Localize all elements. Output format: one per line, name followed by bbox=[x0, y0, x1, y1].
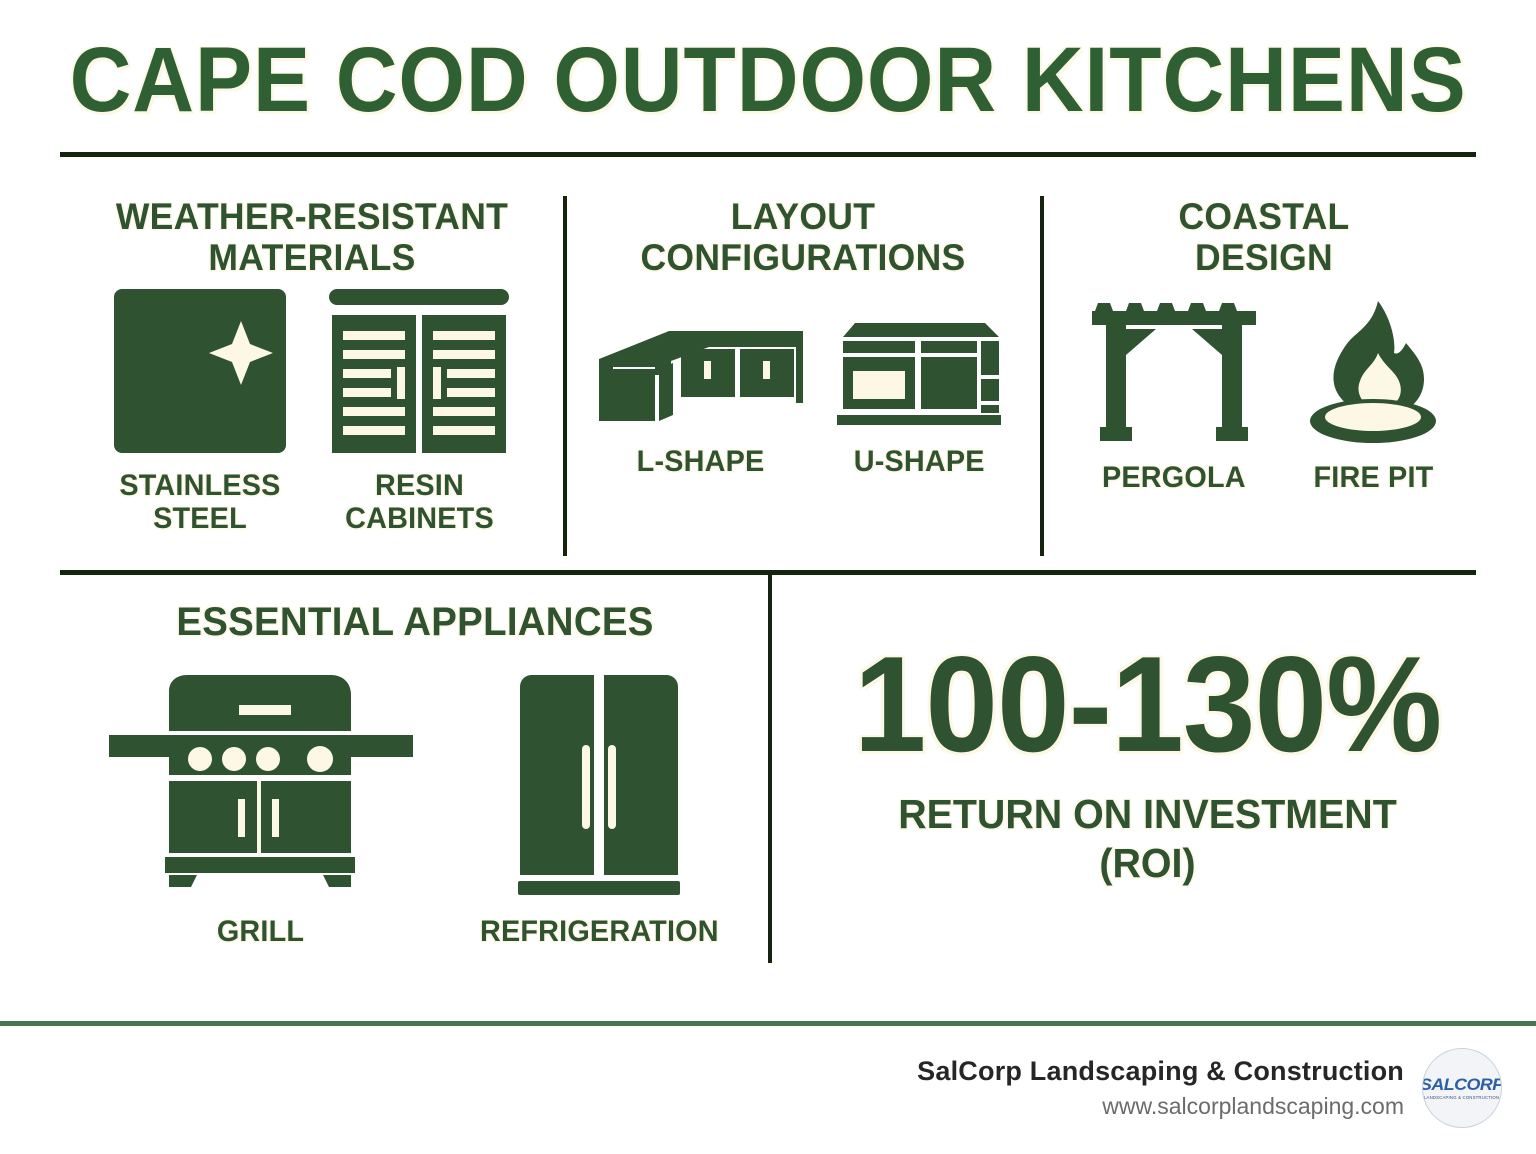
panel-roi-statistic: 100-130% RETURN ON INVESTMENT (ROI) bbox=[775, 600, 1520, 888]
roi-caption-line2: (ROI) bbox=[790, 839, 1505, 888]
footer-divider bbox=[0, 1021, 1536, 1026]
label-resin-cabinets-line2: CABINETS bbox=[345, 502, 494, 536]
resin-cabinet-icon bbox=[324, 285, 514, 457]
label-fire-pit: FIRE PIT bbox=[1313, 461, 1433, 495]
label-grill: GRILL bbox=[217, 915, 304, 949]
page-title-text: CAPE COD OUTDOOR KITCHENS bbox=[69, 34, 1466, 128]
item-grill: GRILL bbox=[107, 671, 415, 949]
panel-heading-materials-line2: MATERIALS bbox=[72, 237, 552, 278]
vertical-divider-appliances-roi bbox=[768, 575, 772, 963]
panel-heading-appliances: ESSENTIAL APPLIANCES bbox=[76, 600, 754, 645]
item-fire-pit: FIRE PIT bbox=[1298, 297, 1448, 495]
label-stainless-steel: STAINLESS STEEL bbox=[119, 469, 280, 536]
label-stainless-steel-line2: STEEL bbox=[119, 502, 280, 536]
panel-heading-layout-line2: CONFIGURATIONS bbox=[575, 237, 1030, 278]
footer: SalCorp Landscaping & Construction www.s… bbox=[917, 1048, 1502, 1128]
label-u-shape: U-SHAPE bbox=[854, 445, 985, 479]
label-refrigeration: REFRIGERATION bbox=[480, 915, 719, 949]
label-stainless-steel-line1: STAINLESS bbox=[119, 469, 280, 503]
icon-row-coastal: PERGOLA FIRE PIT bbox=[1044, 297, 1484, 495]
panel-heading-coastal: COASTAL DESIGN bbox=[1053, 196, 1475, 279]
u-shape-counter-icon bbox=[829, 313, 1009, 433]
roi-value: 100-130% bbox=[790, 636, 1505, 772]
icon-row-appliances: GRILL bbox=[62, 671, 768, 949]
logo-wordmark: SALCORP bbox=[1422, 1076, 1502, 1093]
label-resin-cabinets-line1: RESIN bbox=[345, 469, 494, 503]
item-stainless-steel: STAINLESS STEEL bbox=[110, 285, 290, 536]
item-refrigeration: REFRIGERATION bbox=[475, 671, 724, 949]
footer-text: SalCorp Landscaping & Construction www.s… bbox=[917, 1056, 1404, 1120]
panel-heading-coastal-line2: DESIGN bbox=[1053, 237, 1475, 278]
roi-caption-line1: RETURN ON INVESTMENT bbox=[790, 790, 1505, 839]
item-resin-cabinets: RESIN CABINETS bbox=[324, 285, 514, 536]
infographic-canvas: CAPE COD OUTDOOR KITCHENS WEATHER-RESIST… bbox=[0, 0, 1536, 1154]
l-shape-counter-icon bbox=[597, 313, 805, 433]
page-title: CAPE COD OUTDOOR KITCHENS bbox=[0, 34, 1536, 128]
label-l-shape-line1: L-SHAPE bbox=[637, 445, 765, 479]
grill-icon bbox=[107, 671, 415, 903]
company-name: SalCorp Landscaping & Construction bbox=[917, 1056, 1404, 1087]
panel-heading-materials: WEATHER-RESISTANT MATERIALS bbox=[72, 196, 552, 279]
company-url[interactable]: www.salcorplandscaping.com bbox=[917, 1093, 1404, 1120]
logo-tagline: LANDSCAPING & CONSTRUCTION bbox=[1424, 1095, 1499, 1100]
label-l-shape: L-SHAPE bbox=[637, 445, 765, 479]
panel-heading-layout-line1: LAYOUT bbox=[575, 196, 1030, 237]
label-u-shape-line1: U-SHAPE bbox=[854, 445, 985, 479]
item-l-shape: L-SHAPE bbox=[597, 313, 805, 479]
label-resin-cabinets: RESIN CABINETS bbox=[345, 469, 494, 536]
item-pergola: PERGOLA bbox=[1080, 297, 1268, 495]
icon-row-materials: STAINLESS STEEL bbox=[62, 285, 562, 536]
item-u-shape: U-SHAPE bbox=[829, 313, 1009, 479]
panel-heading-coastal-line1: COASTAL bbox=[1053, 196, 1475, 237]
label-pergola: PERGOLA bbox=[1102, 461, 1246, 495]
title-divider bbox=[60, 152, 1476, 157]
pergola-icon bbox=[1080, 297, 1268, 449]
label-fire-pit-line1: FIRE PIT bbox=[1313, 461, 1433, 495]
salcorp-logo-icon: SALCORP LANDSCAPING & CONSTRUCTION bbox=[1422, 1048, 1502, 1128]
panel-heading-layout: LAYOUT CONFIGURATIONS bbox=[575, 196, 1030, 279]
label-refrigeration-line1: REFRIGERATION bbox=[480, 915, 719, 949]
panel-weather-resistant-materials: WEATHER-RESISTANT MATERIALS STAINLESS ST… bbox=[62, 196, 562, 536]
label-pergola-line1: PERGOLA bbox=[1102, 461, 1246, 495]
panel-layout-configurations: LAYOUT CONFIGURATIONS bbox=[566, 196, 1040, 478]
label-grill-line1: GRILL bbox=[217, 915, 304, 949]
fire-pit-icon bbox=[1298, 297, 1448, 449]
refrigerator-icon bbox=[510, 671, 688, 903]
panel-essential-appliances: ESSENTIAL APPLIANCES bbox=[62, 600, 768, 948]
icon-row-layout: L-SHAPE bbox=[566, 313, 1040, 479]
panel-heading-appliances-line1: ESSENTIAL APPLIANCES bbox=[76, 600, 754, 645]
roi-caption: RETURN ON INVESTMENT (ROI) bbox=[790, 790, 1505, 888]
panel-coastal-design: COASTAL DESIGN bbox=[1044, 196, 1484, 494]
stainless-steel-panel-icon bbox=[110, 285, 290, 457]
panel-heading-materials-line1: WEATHER-RESISTANT bbox=[72, 196, 552, 237]
